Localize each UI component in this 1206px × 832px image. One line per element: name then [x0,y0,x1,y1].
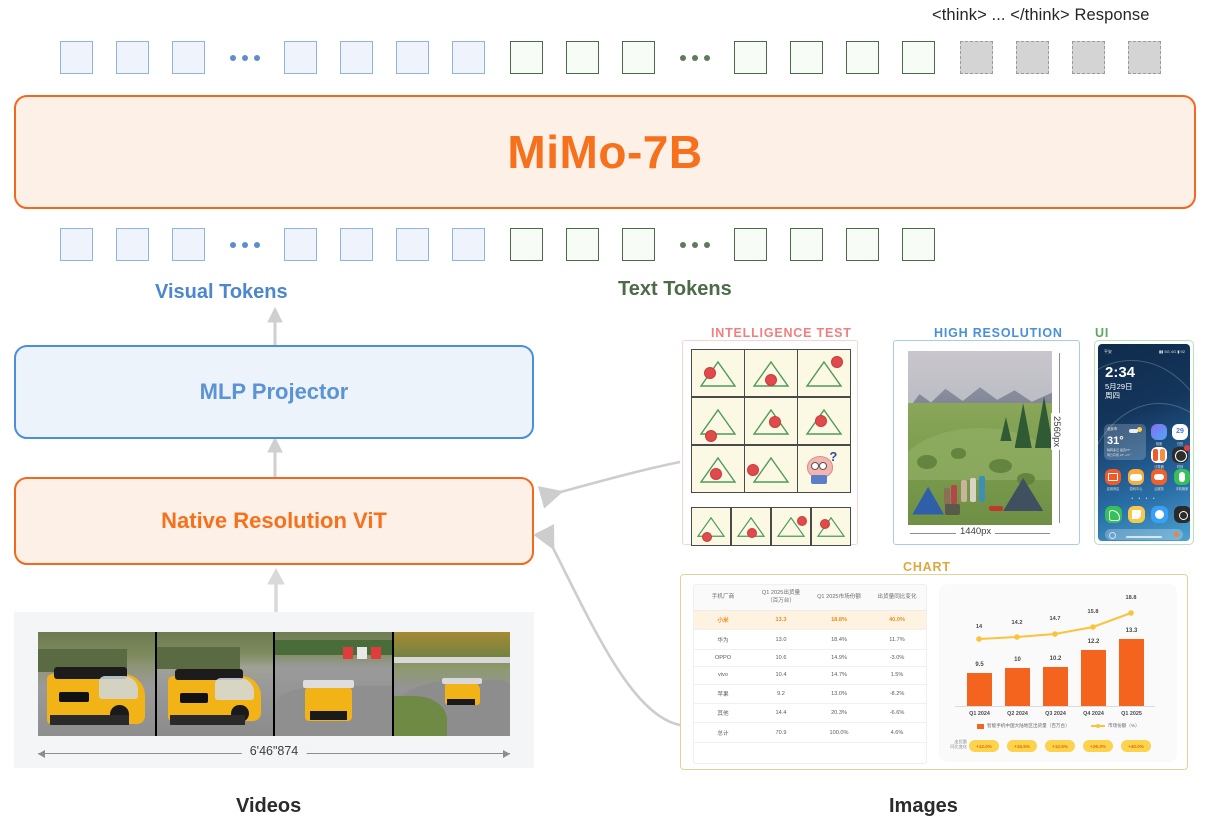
table-cell: 14.7% [810,667,868,684]
app-icon-game-center[interactable] [1128,469,1144,485]
weather-temp: 31° [1107,435,1124,447]
status-bar-left: 平安 [1104,349,1112,355]
bar-value-label: 10.2 [1039,656,1072,662]
table-cell: -6.6% [868,703,926,722]
legend-label: 市场份额（%） [1108,723,1140,729]
bar [1005,668,1030,706]
text-token-row-bottom [510,228,935,261]
notification-badge [1184,445,1190,451]
video-frame [394,632,511,736]
table-row[interactable]: 苹果 9.2 13.0% -8.2% [694,684,926,703]
table-cell: 其他 [694,703,752,722]
images-label: Images [889,795,958,818]
video-frame [38,632,157,736]
intelligence-test-card: ? [682,340,858,545]
chart-card: 手机厂商 Q1 2025出货量 （百万台） Q1 2025市场份额 出货量同比变… [680,574,1188,770]
ellipsis-icon [228,242,261,248]
text-token [510,228,543,261]
ellipsis-icon [228,55,261,61]
line-point-label: 18.8 [1115,595,1147,601]
high-resolution-title: HIGH RESOLUTION [934,326,1063,340]
x-tick-label: Q4 2024 [1075,711,1112,717]
ui-screenshot-card: 平安 ▮▮ 5G 4G ▮ 92 2:34 5月29日 周四 北京市 31° 晴… [1094,340,1194,545]
yoy-badge: +16.5% [1007,740,1037,752]
visual-token [172,41,205,74]
table-cell: 18.8% [810,611,868,630]
yoy-badge: +40.0% [1121,740,1151,752]
text-token [846,228,879,261]
weather-city: 北京市 [1107,426,1117,431]
table-cell: 10.6 [752,649,810,666]
bar [1119,639,1144,706]
text-token [902,41,935,74]
text-token [790,228,823,261]
visual-token-row-top [60,41,485,74]
legend-swatch-bar [977,724,984,729]
question-mark-icon: ? [829,449,837,464]
iq-cell [798,350,850,396]
visual-token [396,41,429,74]
height-dim-label: 2560px [1051,413,1062,450]
person [970,478,976,502]
app-icon-security[interactable] [1174,469,1190,485]
table-header-cell: Q1 2025出货量 （百万台） [752,585,810,611]
x-axis [955,706,1155,707]
response-token-row [960,41,1161,74]
backpack [945,504,959,514]
response-token [1016,41,1049,74]
legend-bar-series: 智能手机中国大陆地区出货量（百万台） [977,723,1070,729]
home-indicator [1126,536,1163,538]
iq-answer-cell: ? [798,446,850,492]
landscape-photo [908,351,1052,525]
visual-token [116,41,149,74]
text-token [566,228,599,261]
table-cell: 9.2 [752,684,810,703]
table-cell: 4.6% [868,723,926,742]
video-frame-strip [38,632,510,736]
bar [1043,667,1068,706]
app-label: 云服务 [1151,486,1167,491]
bar-value-label: 13.3 [1115,628,1148,634]
legend-swatch-line [1091,725,1105,727]
dock-icon-notes[interactable] [1128,506,1145,523]
vit-box: Native Resolution ViT [14,477,534,565]
table-cell: 苹果 [694,684,752,703]
iq-cell [692,446,744,492]
clock-time: 2:34 [1105,364,1135,381]
table-cell: 18.4% [810,630,868,649]
text-token [902,228,935,261]
table-cell: 70.9 [752,723,810,742]
table-cell: 20.3% [810,703,868,722]
table-row[interactable]: 其他 14.4 20.3% -6.6% [694,703,926,722]
response-token [960,41,993,74]
high-resolution-card: 2560px 1440px [893,340,1080,545]
table-cell: 13.0% [810,684,868,703]
visual-token [60,41,93,74]
iq-cell [745,350,797,396]
table-cell: 小米 [694,611,752,630]
search-bar[interactable] [1105,529,1183,540]
iq-option-row [691,507,851,546]
video-frame [157,632,276,736]
table-cell: vivo [694,667,752,684]
visual-token [116,228,149,261]
chart-title: CHART [903,560,951,574]
app-label: 游戏中心 [1128,486,1144,491]
bar-value-label: 12.2 [1077,639,1110,645]
x-tick-label: Q2 2024 [999,711,1036,717]
table-cell: 13.0 [752,630,810,649]
table-cell: -3.0% [868,649,926,666]
legend-line-series: 市场份额（%） [1091,723,1140,729]
width-dim-label: 1440px [956,526,995,537]
app-icon-clock[interactable] [1172,447,1188,463]
ellipsis-icon [678,55,711,61]
weather-sub: 明日有雨 18°~27° [1107,453,1131,457]
sleeping-mat [989,506,1003,511]
iq-option[interactable] [692,508,730,545]
iq-cell [692,398,744,444]
weather-widget[interactable]: 北京市 31° 晴转多云 最高27° 明日有雨 18°~27° [1104,424,1146,460]
iq-cell [692,350,744,396]
dock-icon-settings[interactable] [1174,506,1190,523]
ellipsis-icon [678,242,711,248]
visual-token-row-bottom [60,228,485,261]
video-duration-label: 6'46"874 [242,744,307,758]
person [961,480,967,503]
table-cell: 总计 [694,723,752,742]
bar [1081,650,1106,706]
app-label: 应用商店 [1105,486,1121,491]
app-icon-cloud[interactable] [1151,469,1167,485]
text-token [846,41,879,74]
table-row[interactable]: 小米 13.3 18.8% 40.0% [694,611,926,630]
visual-token [452,41,485,74]
clock-date-line2: 周四 [1105,390,1120,401]
line-point-label: 14.2 [1001,620,1033,626]
person [951,485,957,504]
app-icon-app-store[interactable] [1105,469,1121,485]
voice-icon [1174,532,1179,537]
text-token-row-top [510,41,935,74]
dock-icon-phone[interactable] [1105,506,1122,523]
app-label: 相册 [1151,441,1167,446]
x-tick-label: Q1 2025 [1113,711,1150,717]
text-token [510,41,543,74]
table-header-cell: 出货量同比变化 [868,585,926,611]
iq-3x3-grid: ? [691,349,851,493]
videos-panel: 6'46"874 [14,612,534,768]
x-tick-label: Q3 2024 [1037,711,1074,717]
ruler-arrow-left [38,750,45,758]
calendar-day: 29 [1172,428,1188,435]
shipment-bar-chart: 14 14.2 14.7 15.8 18.8 9.5 10 10.2 12.2 … [939,584,1177,762]
table-cell: 40.0% [868,611,926,630]
response-label: <think> ... </think> Response [932,6,1150,25]
visual-token [284,41,317,74]
text-tokens-label: Text Tokens [618,278,732,301]
visual-token [60,228,93,261]
phone-home-screen: 平安 ▮▮ 5G 4G ▮ 92 2:34 5月29日 周四 北京市 31° 晴… [1098,344,1190,541]
x-tick-label: Q1 2024 [961,711,998,717]
line-point-label: 14.7 [1039,616,1071,622]
app-icon-calculator[interactable] [1151,447,1167,463]
shipment-table-wrap: 手机厂商 Q1 2025出货量 （百万台） Q1 2025市场份额 出货量同比变… [693,584,927,764]
text-token [622,228,655,261]
iq-cell [745,398,797,444]
iq-option[interactable] [812,508,850,545]
text-token [734,41,767,74]
table-cell: 14.4 [752,703,810,722]
response-token [1128,41,1161,74]
bar-value-label: 9.5 [963,662,996,668]
visual-token [284,228,317,261]
response-token [1072,41,1105,74]
visual-token [452,228,485,261]
table-cell: -8.2% [868,684,926,703]
yoy-badge: +29.3% [1083,740,1113,752]
table-cell: 11.7% [868,630,926,649]
table-cell: 13.3 [752,611,810,630]
vit-label: Native Resolution ViT [161,508,387,534]
table-header-cell: Q1 2025市场份额 [810,585,868,611]
yoy-badge: +12.0% [969,740,999,752]
bush [989,459,1012,473]
mlp-projector-label: MLP Projector [200,379,349,405]
video-duration-ruler: 6'46"874 [38,748,510,760]
gear-icon [1179,511,1188,520]
yoy-row-label: 出货量 同比变化 [941,739,967,750]
table-cell: 华为 [694,630,752,649]
line-point-label: 15.8 [1077,609,1109,615]
text-token [734,228,767,261]
text-token [790,41,823,74]
text-token [622,41,655,74]
intelligence-test-title: INTELLIGENCE TEST [711,326,852,340]
app-label: 手机管家 [1174,486,1190,491]
iq-option[interactable] [772,508,810,545]
table-cell: 14.9% [810,649,868,666]
line-point-label: 14 [963,624,995,630]
shipment-table: 手机厂商 Q1 2025出货量 （百万台） Q1 2025市场份额 出货量同比变… [694,585,926,743]
weather-desc: 晴转多云 最高27° [1107,448,1130,452]
table-row[interactable]: 总计 70.9 100.0% 4.6% [694,723,926,742]
ruler-arrow-right [503,750,510,758]
table-cell: 1.5% [868,667,926,684]
table-row[interactable]: OPPO 10.6 14.9% -3.0% [694,649,926,666]
table-header-cell: 手机厂商 [694,585,752,611]
yoy-badge: +12.5% [1045,740,1075,752]
visual-token [340,41,373,74]
page-indicator: • • • • [1098,496,1190,502]
table-header-row: 手机厂商 Q1 2025出货量 （百万台） Q1 2025市场份额 出货量同比变… [694,585,926,611]
table-row[interactable]: vivo 10.4 14.7% 1.5% [694,667,926,684]
text-token [566,41,599,74]
status-bar-right: ▮▮ 5G 4G ▮ 92 [1159,349,1185,354]
video-frame [275,632,394,736]
cloud-icon [1129,429,1138,433]
iq-cell [798,398,850,444]
videos-label: Videos [236,795,301,818]
model-title: MiMo-7B [507,125,702,179]
visual-token [172,228,205,261]
visual-token [340,228,373,261]
iq-option[interactable] [732,508,770,545]
table-cell: 10.4 [752,667,810,684]
visual-token [396,228,429,261]
bush [951,448,965,458]
table-row[interactable]: 华为 13.0 18.4% 11.7% [694,630,926,649]
mimo-model-box: MiMo-7B [14,95,1196,209]
legend-label: 智能手机中国大陆地区出货量（百万台） [987,723,1070,729]
bar [967,673,992,706]
mlp-projector-box: MLP Projector [14,345,534,439]
bar-value-label: 10 [1001,657,1034,663]
iq-cell [745,446,797,492]
table-cell: 100.0% [810,723,868,742]
app-icon-photos[interactable] [1151,424,1167,440]
dock-icon-browser[interactable] [1151,506,1168,523]
table-cell: OPPO [694,649,752,666]
search-icon [1109,532,1116,539]
app-icon-calendar[interactable]: 29 [1172,424,1188,440]
person [979,476,985,502]
